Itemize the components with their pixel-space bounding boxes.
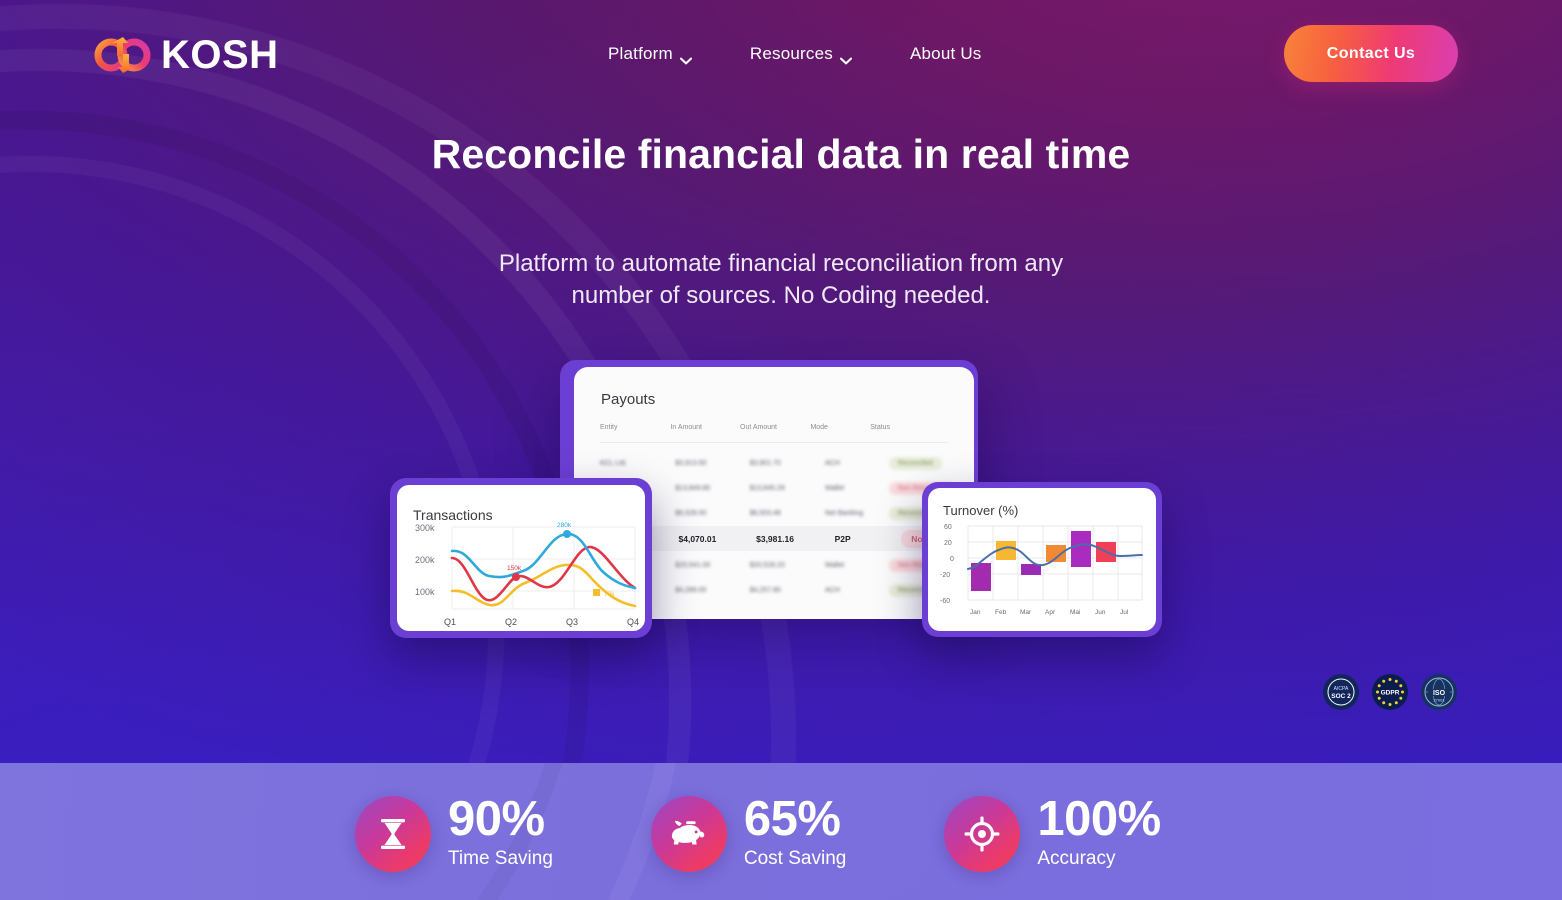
stat-value: 65% bbox=[744, 795, 846, 844]
column-in-amount: In Amount bbox=[670, 419, 740, 442]
cell-mode: ACH bbox=[825, 460, 889, 467]
brand-logo[interactable]: KOSH bbox=[94, 30, 279, 80]
cell-status: Reconciled bbox=[889, 457, 972, 470]
nav-item-resources-label: Resources bbox=[750, 44, 833, 64]
stat-label: Accuracy bbox=[1037, 846, 1160, 872]
contact-us-button[interactable]: Contact Us bbox=[1284, 25, 1458, 82]
x-tick-q3: Q3 bbox=[566, 617, 578, 627]
cell-mode: Net Banking bbox=[825, 510, 889, 517]
y-tick-60: 60 bbox=[944, 524, 952, 531]
x-tick-feb: Feb bbox=[995, 609, 1007, 616]
cell-in-amount: $3,913.50 bbox=[675, 460, 749, 467]
cell-in-amount: $4,070.01 bbox=[679, 534, 757, 544]
chevron-down-icon bbox=[680, 50, 692, 58]
svg-text:GDPR: GDPR bbox=[1381, 690, 1400, 697]
x-tick-jul: Jul bbox=[1120, 609, 1129, 616]
target-icon bbox=[944, 796, 1020, 872]
turnover-chart-card: Turnover (%) bbox=[922, 482, 1162, 637]
x-tick-mar: Mar bbox=[1020, 609, 1032, 616]
x-tick-q1: Q1 bbox=[444, 617, 456, 627]
stat-text: 65% Cost Saving bbox=[744, 795, 846, 872]
cell-in-amount: $20,541.00 bbox=[675, 562, 749, 569]
nav-item-about-us-label: About Us bbox=[910, 44, 982, 64]
stat-text: 90% Time Saving bbox=[448, 795, 553, 872]
svg-text:ISO: ISO bbox=[1433, 690, 1446, 697]
iso-27001-badge-icon: ISO 27001 bbox=[1420, 673, 1458, 711]
kosh-infinity-logo-icon bbox=[94, 30, 152, 80]
series-a-marker bbox=[563, 530, 571, 538]
y-tick-0: 0 bbox=[950, 556, 954, 563]
turnover-chart-body: Turnover (%) bbox=[928, 488, 1156, 631]
stat-value: 100% bbox=[1037, 795, 1160, 844]
cell-mode: P2P bbox=[835, 534, 902, 544]
y-tick-200k: 200k bbox=[415, 555, 435, 565]
cell-mode: Wallet bbox=[825, 562, 889, 569]
cell-in-amount: $6,528.00 bbox=[675, 510, 749, 517]
table-row[interactable]: $6,528.00 $6,503.48 Net Banking Reconcil… bbox=[600, 501, 972, 526]
table-row[interactable]: FunShop $13,849.80 $13,845.28 Wallet Non… bbox=[600, 476, 972, 501]
chevron-down-icon bbox=[840, 50, 852, 58]
stat-cost-saving: 65% Cost Saving bbox=[651, 795, 846, 872]
transactions-chart-card: Transactions 300k 200k bbox=[390, 478, 652, 638]
annotation-280k: 280k bbox=[557, 522, 572, 529]
gdpr-badge-icon: GDPR bbox=[1371, 673, 1409, 711]
column-entity: Entity bbox=[600, 419, 670, 442]
piggy-bank-icon bbox=[651, 796, 727, 872]
table-row[interactable]: $20,541.00 $20,528.20 Wallet Non Reconci… bbox=[600, 553, 972, 578]
x-tick-mai: Mai bbox=[1070, 609, 1080, 616]
stat-text: 100% Accuracy bbox=[1037, 795, 1160, 872]
svg-text:27001: 27001 bbox=[1433, 698, 1445, 703]
svg-text:AICPA: AICPA bbox=[1334, 686, 1349, 692]
x-tick-jun: Jun bbox=[1095, 609, 1106, 616]
y-tick-minus-20: -20 bbox=[940, 572, 950, 579]
transactions-chart-body: Transactions 300k 200k bbox=[397, 485, 645, 631]
stat-time-saving: 90% Time Saving bbox=[355, 795, 553, 872]
table-row[interactable]: KCL Ltd. $3,913.50 $3,901.70 ACH Reconci… bbox=[600, 451, 972, 476]
annotation-150k: 150k bbox=[507, 565, 522, 572]
nav-item-platform[interactable]: Platform bbox=[600, 38, 700, 70]
nav-item-about-us[interactable]: About Us bbox=[902, 38, 990, 70]
top-navigation: KOSH Platform Resources About Us Contact… bbox=[0, 0, 1562, 108]
turnover-chart-title: Turnover (%) bbox=[943, 503, 1018, 518]
brand-name: KOSH bbox=[161, 35, 279, 75]
cell-in-amount: $13,849.80 bbox=[675, 485, 749, 492]
nav-item-resources[interactable]: Resources bbox=[742, 38, 860, 70]
landing-page: KOSH Platform Resources About Us Contact… bbox=[0, 0, 1562, 900]
column-out-amount: Out Amount bbox=[740, 419, 810, 442]
y-tick-300k: 300k bbox=[415, 523, 435, 533]
cell-out-amount: $6,503.48 bbox=[750, 510, 825, 517]
bar-apr bbox=[1046, 545, 1066, 562]
hourglass-icon bbox=[355, 796, 431, 872]
payouts-title: Payouts bbox=[601, 391, 655, 408]
product-screenshot-mockup: Payouts Entity In Amount Out Amount Mode… bbox=[0, 0, 1562, 763]
cell-in-amount: $4,289.00 bbox=[675, 587, 749, 594]
stat-value: 90% bbox=[448, 795, 553, 844]
transactions-chart-title: Transactions bbox=[413, 507, 493, 523]
aicpa-soc2-badge-icon: AICPA SOC 2 bbox=[1322, 673, 1360, 711]
column-status: Status bbox=[870, 419, 948, 442]
y-tick-minus-60: -60 bbox=[940, 598, 950, 605]
table-row[interactable]: $4,289.00 $4,257.80 ACH Reconciled bbox=[600, 578, 972, 603]
cell-out-amount: $20,528.20 bbox=[750, 562, 825, 569]
cell-entity: KCL Ltd. bbox=[600, 460, 675, 467]
series-c-marker bbox=[593, 589, 600, 596]
x-tick-apr: Apr bbox=[1045, 609, 1056, 616]
cell-out-amount: $3,981.16 bbox=[756, 534, 835, 544]
bar-mai bbox=[1071, 531, 1091, 567]
cell-out-amount: $4,257.80 bbox=[750, 587, 825, 594]
stat-label: Cost Saving bbox=[744, 846, 846, 872]
nav-item-platform-label: Platform bbox=[608, 44, 673, 64]
payouts-table-header: Entity In Amount Out Amount Mode Status bbox=[600, 419, 948, 443]
nav-links: Platform Resources About Us bbox=[600, 38, 990, 70]
cell-mode: Wallet bbox=[825, 485, 889, 492]
x-tick-q2: Q2 bbox=[505, 617, 517, 627]
cell-mode: ACH bbox=[825, 587, 889, 594]
compliance-badges: AICPA SOC 2 GDPR bbox=[1322, 673, 1458, 711]
stat-accuracy: 100% Accuracy bbox=[944, 795, 1160, 872]
annotation-70k: 70k bbox=[604, 591, 615, 598]
column-mode: Mode bbox=[810, 419, 870, 442]
cell-out-amount: $3,901.70 bbox=[750, 460, 825, 467]
series-b-marker bbox=[512, 573, 520, 581]
y-tick-100k: 100k bbox=[415, 587, 435, 597]
cell-out-amount: $13,845.28 bbox=[750, 485, 825, 492]
x-tick-jan: Jan bbox=[970, 609, 981, 616]
y-tick-20: 20 bbox=[944, 540, 952, 547]
stat-label: Time Saving bbox=[448, 846, 553, 872]
svg-text:SOC 2: SOC 2 bbox=[1331, 693, 1351, 700]
x-tick-q4: Q4 bbox=[627, 617, 639, 627]
status-badge: Reconciled bbox=[889, 457, 942, 470]
stats-list: 90% Time Saving 65% Cost Saving bbox=[355, 795, 1161, 872]
